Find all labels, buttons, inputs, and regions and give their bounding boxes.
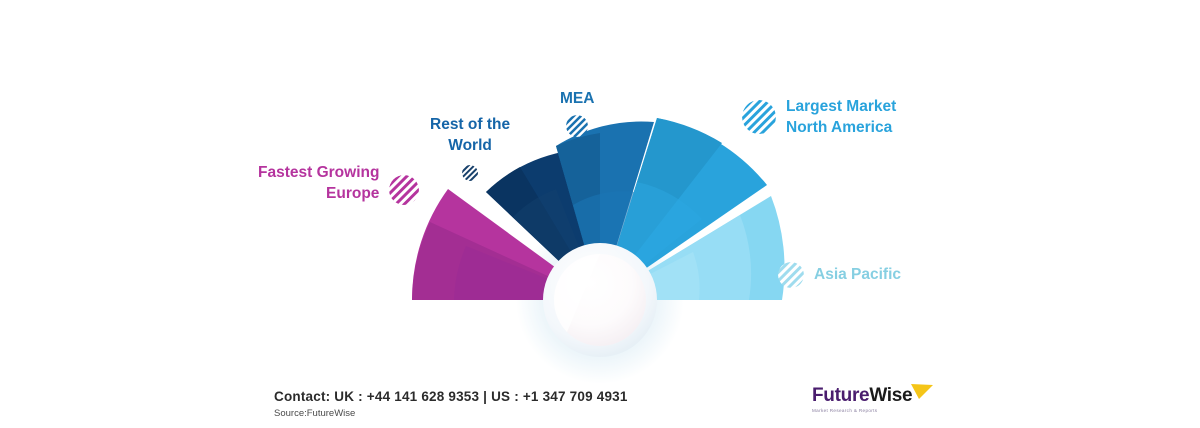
- label-asia-pacific: Asia Pacific: [778, 262, 901, 288]
- label-rest-of-world-subtitle: World: [430, 135, 510, 156]
- striped-circle-icon: [462, 165, 478, 181]
- regional-fan-chart: [0, 0, 1200, 428]
- label-europe-subtitle: Europe: [258, 183, 379, 204]
- logo-word-secondary: Wise: [869, 385, 912, 406]
- footer: Contact: UK : +44 141 628 9353 | US : +1…: [0, 378, 1200, 428]
- label-north-america-title: Largest Market: [786, 98, 896, 115]
- label-north-america-subtitle: North America: [786, 117, 896, 138]
- label-europe: Fastest Growing Europe: [258, 162, 419, 205]
- label-asia-pacific-text: Asia Pacific: [814, 264, 901, 285]
- label-north-america: Largest Market North America: [742, 96, 896, 139]
- arrow-swoosh-icon: [910, 383, 934, 403]
- contact-line: Contact: UK : +44 141 628 9353 | US : +1…: [274, 389, 628, 404]
- label-north-america-text: Largest Market North America: [786, 96, 896, 139]
- striped-circle-icon: [778, 262, 804, 288]
- infographic-canvas: Fastest Growing Europe Rest of the World: [0, 0, 1200, 428]
- striped-circle-icon: [742, 100, 776, 134]
- source-line: Source:FutureWise: [274, 408, 355, 419]
- label-mea-title: MEA: [560, 90, 594, 107]
- logo-tagline: Market Research & Reports: [812, 408, 932, 415]
- label-europe-text: Fastest Growing Europe: [258, 162, 379, 205]
- label-rest-of-world-text: Rest of the World: [430, 114, 510, 157]
- label-asia-pacific-title: Asia Pacific: [814, 266, 901, 283]
- label-rest-of-world-title: Rest of the: [430, 116, 510, 133]
- label-rest-of-world: Rest of the World: [430, 114, 510, 181]
- striped-circle-icon: [566, 115, 588, 137]
- futurewise-logo: FutureWise Market Research & Reports: [812, 386, 932, 420]
- label-mea-text: MEA: [560, 88, 594, 109]
- striped-circle-icon: [389, 175, 419, 205]
- label-europe-title: Fastest Growing: [258, 164, 379, 181]
- logo-word-primary: Future: [812, 385, 869, 406]
- label-mea: MEA: [560, 88, 594, 137]
